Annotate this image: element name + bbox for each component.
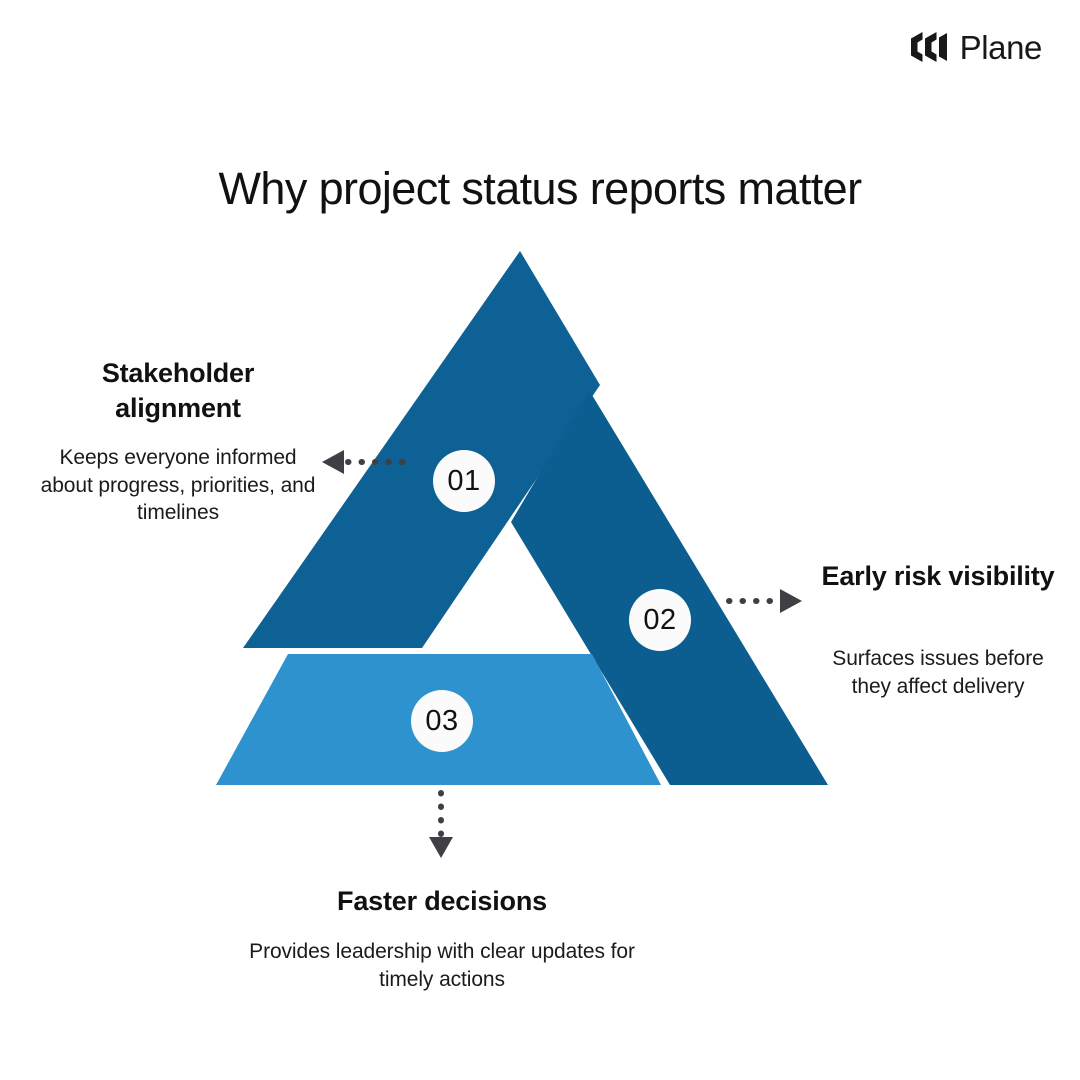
connector-bottom — [429, 793, 453, 858]
segment-badge-01[interactable]: 01 — [433, 450, 495, 512]
infographic-canvas: Plane Why project status reports matter … — [0, 0, 1080, 1080]
callout-body-faster-decisions: Provides leadership with clear updates f… — [236, 938, 648, 993]
badge-label-02: 02 — [643, 604, 676, 637]
badge-label-03: 03 — [425, 705, 458, 738]
segment-badge-03[interactable]: 03 — [411, 690, 473, 752]
callout-title-faster-decisions: Faster decisions — [236, 884, 648, 919]
callout-body-early-risk-visibility: Surfaces issues before they affect deliv… — [812, 645, 1064, 700]
segment-badge-02[interactable]: 02 — [629, 589, 691, 651]
callout-title-stakeholder-alignment: Stakeholder alignment — [36, 356, 320, 426]
callout-title-early-risk-visibility: Early risk visibility — [820, 559, 1056, 594]
callout-body-stakeholder-alignment: Keeps everyone informed about progress, … — [36, 444, 320, 527]
badge-label-01: 01 — [447, 465, 480, 498]
connector-right — [729, 589, 802, 613]
